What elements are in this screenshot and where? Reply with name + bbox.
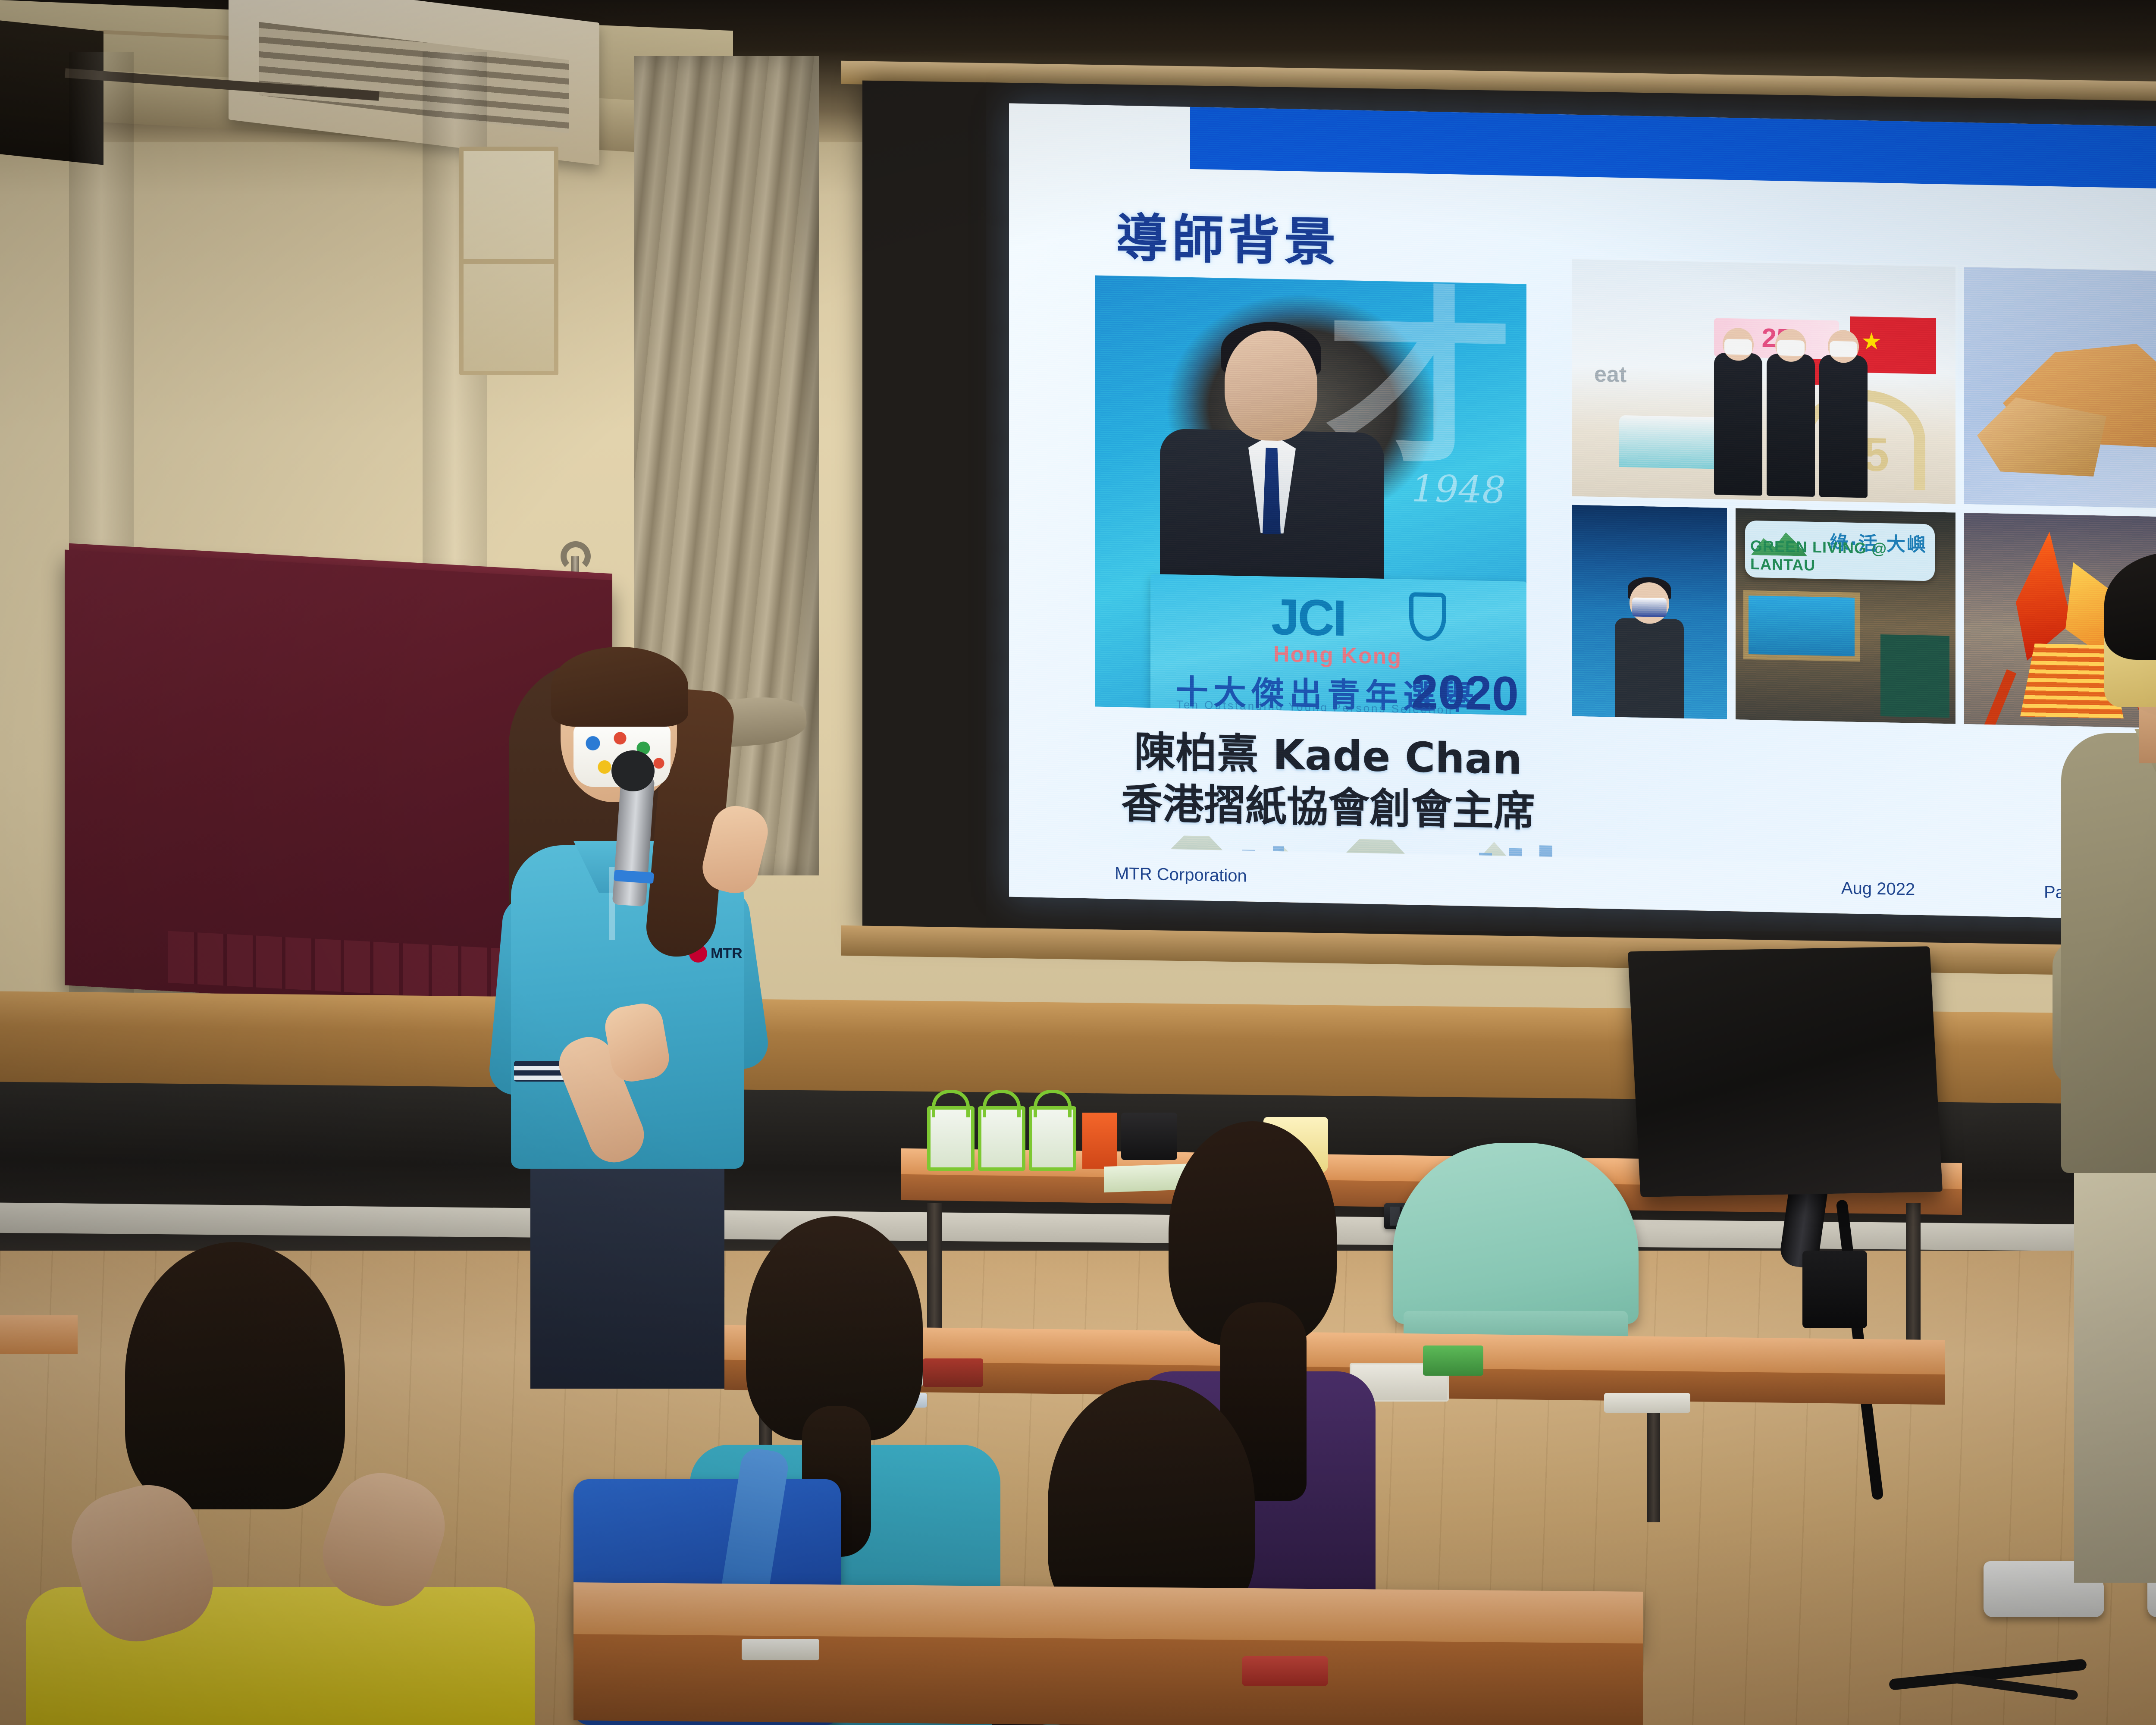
mall-person bbox=[1819, 354, 1868, 498]
footer-date: Aug 2022 bbox=[1841, 878, 1915, 899]
desk-leg bbox=[1906, 1203, 1921, 1341]
jci-region-text: Hong Kong bbox=[1273, 641, 1402, 670]
woman-hair-top bbox=[551, 647, 688, 727]
wall-window-panel bbox=[459, 147, 558, 375]
classroom-presentation-photo: 導師背景 才 1948 JCI Hong Kong 十大傑出青年選舉 2020 … bbox=[0, 0, 2156, 1725]
student-hair bbox=[125, 1242, 345, 1509]
portrait-head bbox=[1225, 330, 1317, 442]
green-tote-bag bbox=[978, 1106, 1025, 1171]
orange-box bbox=[1082, 1113, 1117, 1169]
left-side-desk bbox=[0, 1315, 78, 1354]
photo-mall-ceremony: eat ★ ✾ 25 25 bbox=[1570, 257, 1958, 506]
lantau-info-board bbox=[1880, 634, 1949, 718]
footer-corporation: MTR Corporation bbox=[1115, 864, 1247, 886]
slide-photo-grid: eat ★ ✾ 25 25 bbox=[1570, 257, 2156, 735]
curtain-pole-hook bbox=[561, 541, 591, 571]
slide-title: 導師背景 bbox=[1116, 196, 1340, 275]
computer-monitor bbox=[1628, 946, 1943, 1197]
photo-award-portrait: 才 1948 JCI Hong Kong 十大傑出青年選舉 2020 Ten O… bbox=[1095, 275, 1526, 715]
lantau-video-screen bbox=[1743, 590, 1860, 662]
woman-trousers bbox=[530, 1147, 724, 1389]
mall-person bbox=[1714, 352, 1762, 496]
photo-origami-dragon bbox=[1962, 265, 2156, 514]
mall-person bbox=[1767, 354, 1815, 497]
mall-store-sign: eat bbox=[1594, 361, 1626, 388]
photo-expo-booth bbox=[1570, 503, 1729, 721]
black-box bbox=[1121, 1113, 1177, 1160]
instructor-title: 香港摺紙協會創會主席 bbox=[1087, 769, 1570, 838]
projected-slide: 導師背景 才 1948 JCI Hong Kong 十大傑出青年選舉 2020 … bbox=[1009, 103, 2156, 925]
front-row-desk-apron bbox=[573, 1634, 1643, 1725]
green-packet bbox=[1423, 1345, 1483, 1376]
jci-shield-icon bbox=[1409, 592, 1446, 641]
desk-leg bbox=[927, 1203, 942, 1341]
man-shirt bbox=[2061, 733, 2156, 1173]
paper-sheet bbox=[1604, 1393, 1690, 1413]
lantau-signboard: 綠·活 大嶼 GREEN LIVING @ LANTAU bbox=[1745, 521, 1935, 581]
green-tote-bag bbox=[927, 1106, 975, 1171]
mtr-logo-wordmark: MTR bbox=[711, 945, 743, 962]
lantau-sign-english: GREEN LIVING @ LANTAU bbox=[1750, 537, 1935, 577]
expo-person bbox=[1615, 618, 1684, 718]
red-item bbox=[1242, 1656, 1328, 1686]
red-folder bbox=[923, 1358, 983, 1387]
paper-scrap bbox=[742, 1639, 819, 1660]
jci-award-banner: JCI Hong Kong 十大傑出青年選舉 2020 Ten Outstand… bbox=[1150, 574, 1526, 715]
monitor-clamp-base bbox=[1802, 1251, 1867, 1328]
man-trousers bbox=[2074, 1151, 2156, 1583]
green-tote-bag bbox=[1029, 1106, 1076, 1171]
backdrop-script: 1948 bbox=[1411, 467, 1506, 512]
jci-logo-text: JCI bbox=[1271, 588, 1345, 648]
mall-display-counter bbox=[1619, 415, 1727, 469]
photo-lantau-booth: 綠·活 大嶼 GREEN LIVING @ LANTAU bbox=[1733, 506, 1958, 726]
